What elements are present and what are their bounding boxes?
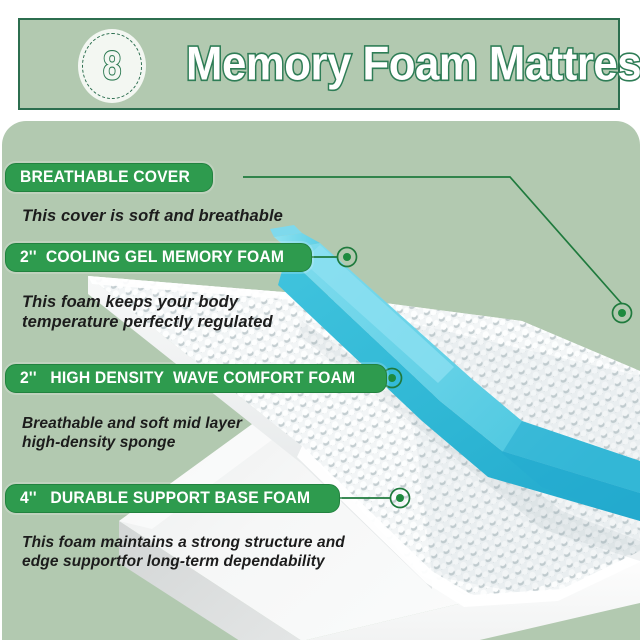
description-wave-comfort: Breathable and soft mid layer high-densi…	[22, 414, 242, 452]
infographic-root: 8 Memory Foam Mattress	[0, 0, 640, 640]
page-title-text: Memory Foam Mattress	[186, 40, 640, 87]
number-badge-icon: 8	[78, 29, 146, 103]
label-text: 2'' COOLING GEL MEMORY FOAM	[20, 249, 284, 266]
callout-base-foam: 4'' DURABLE SUPPORT BASE FOAM	[2, 484, 340, 513]
label-pill-breathable-cover[interactable]: BREATHABLE COVER	[5, 163, 213, 192]
target-dot-icon	[338, 248, 357, 267]
description-base-foam: This foam maintains a strong structure a…	[22, 533, 345, 571]
label-text: 4'' DURABLE SUPPORT BASE FOAM	[20, 490, 310, 507]
page-title: Memory Foam Mattress	[168, 40, 640, 87]
callout-wave-comfort: 2'' HIGH DENSITY WAVE COMFORT FOAM	[2, 364, 387, 393]
content-panel: BREATHABLE COVER This cover is soft and …	[2, 121, 640, 640]
label-pill-wave-comfort[interactable]: 2'' HIGH DENSITY WAVE COMFORT FOAM	[5, 364, 387, 393]
callout-cooling-gel: 2'' COOLING GEL MEMORY FOAM	[2, 243, 312, 272]
badge-number: 8	[103, 46, 121, 86]
leader-line-breathable-cover	[243, 177, 622, 304]
label-pill-base-foam[interactable]: 4'' DURABLE SUPPORT BASE FOAM	[5, 484, 340, 513]
callout-breathable-cover: BREATHABLE COVER	[2, 163, 213, 192]
description-cooling-gel: This foam keeps your body temperature pe…	[22, 292, 273, 332]
description-breathable-cover: This cover is soft and breathable	[22, 206, 283, 226]
label-text: 2'' HIGH DENSITY WAVE COMFORT FOAM	[20, 370, 355, 387]
header-banner: 8 Memory Foam Mattress	[18, 18, 620, 110]
target-dot-icon	[613, 304, 632, 323]
label-text: BREATHABLE COVER	[20, 169, 190, 186]
target-dot-icon	[391, 489, 410, 508]
label-pill-cooling-gel[interactable]: 2'' COOLING GEL MEMORY FOAM	[5, 243, 312, 272]
